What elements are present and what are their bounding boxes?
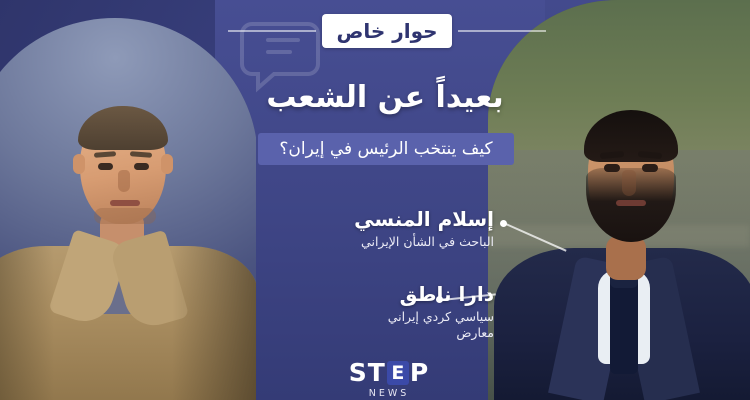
logo-badge-letter: E: [387, 361, 409, 385]
channel-logo: ST E P NEWS: [334, 358, 444, 392]
page-title: بعيداً عن الشعب: [235, 80, 535, 115]
guest-2-name: دارا ناطق: [268, 283, 494, 306]
subtitle-bar: كيف ينتخب الرئيس في إيران؟: [258, 133, 514, 165]
program-badge-label: حوار خاص: [336, 19, 437, 43]
badge-rule-left: [228, 30, 316, 32]
guest-2-role-line-1: سياسي كردي إيراني: [268, 309, 494, 325]
guest-2-photo: [488, 0, 750, 400]
guest-2-caption: دارا ناطق سياسي كردي إيراني معارض: [268, 283, 494, 342]
program-thumbnail: حوار خاص بعيداً عن الشعب كيف ينتخب الرئي…: [0, 0, 750, 400]
subtitle-label: كيف ينتخب الرئيس في إيران؟: [279, 139, 492, 159]
guest-1-name: إسلام المنسي: [268, 208, 494, 231]
logo-text-part-2: P: [410, 358, 429, 387]
program-badge: حوار خاص: [322, 14, 452, 48]
guest-1-photo: [0, 0, 256, 400]
logo-subtitle: NEWS: [369, 388, 410, 399]
logo-text-part-1: ST: [349, 358, 386, 387]
guest-1-caption: إسلام المنسي الباحث في الشأن الإيراني: [268, 208, 494, 250]
guest-2-role-line-2: معارض: [268, 325, 494, 341]
guest-1-role: الباحث في الشأن الإيراني: [268, 234, 494, 250]
badge-rule-right: [458, 30, 546, 32]
